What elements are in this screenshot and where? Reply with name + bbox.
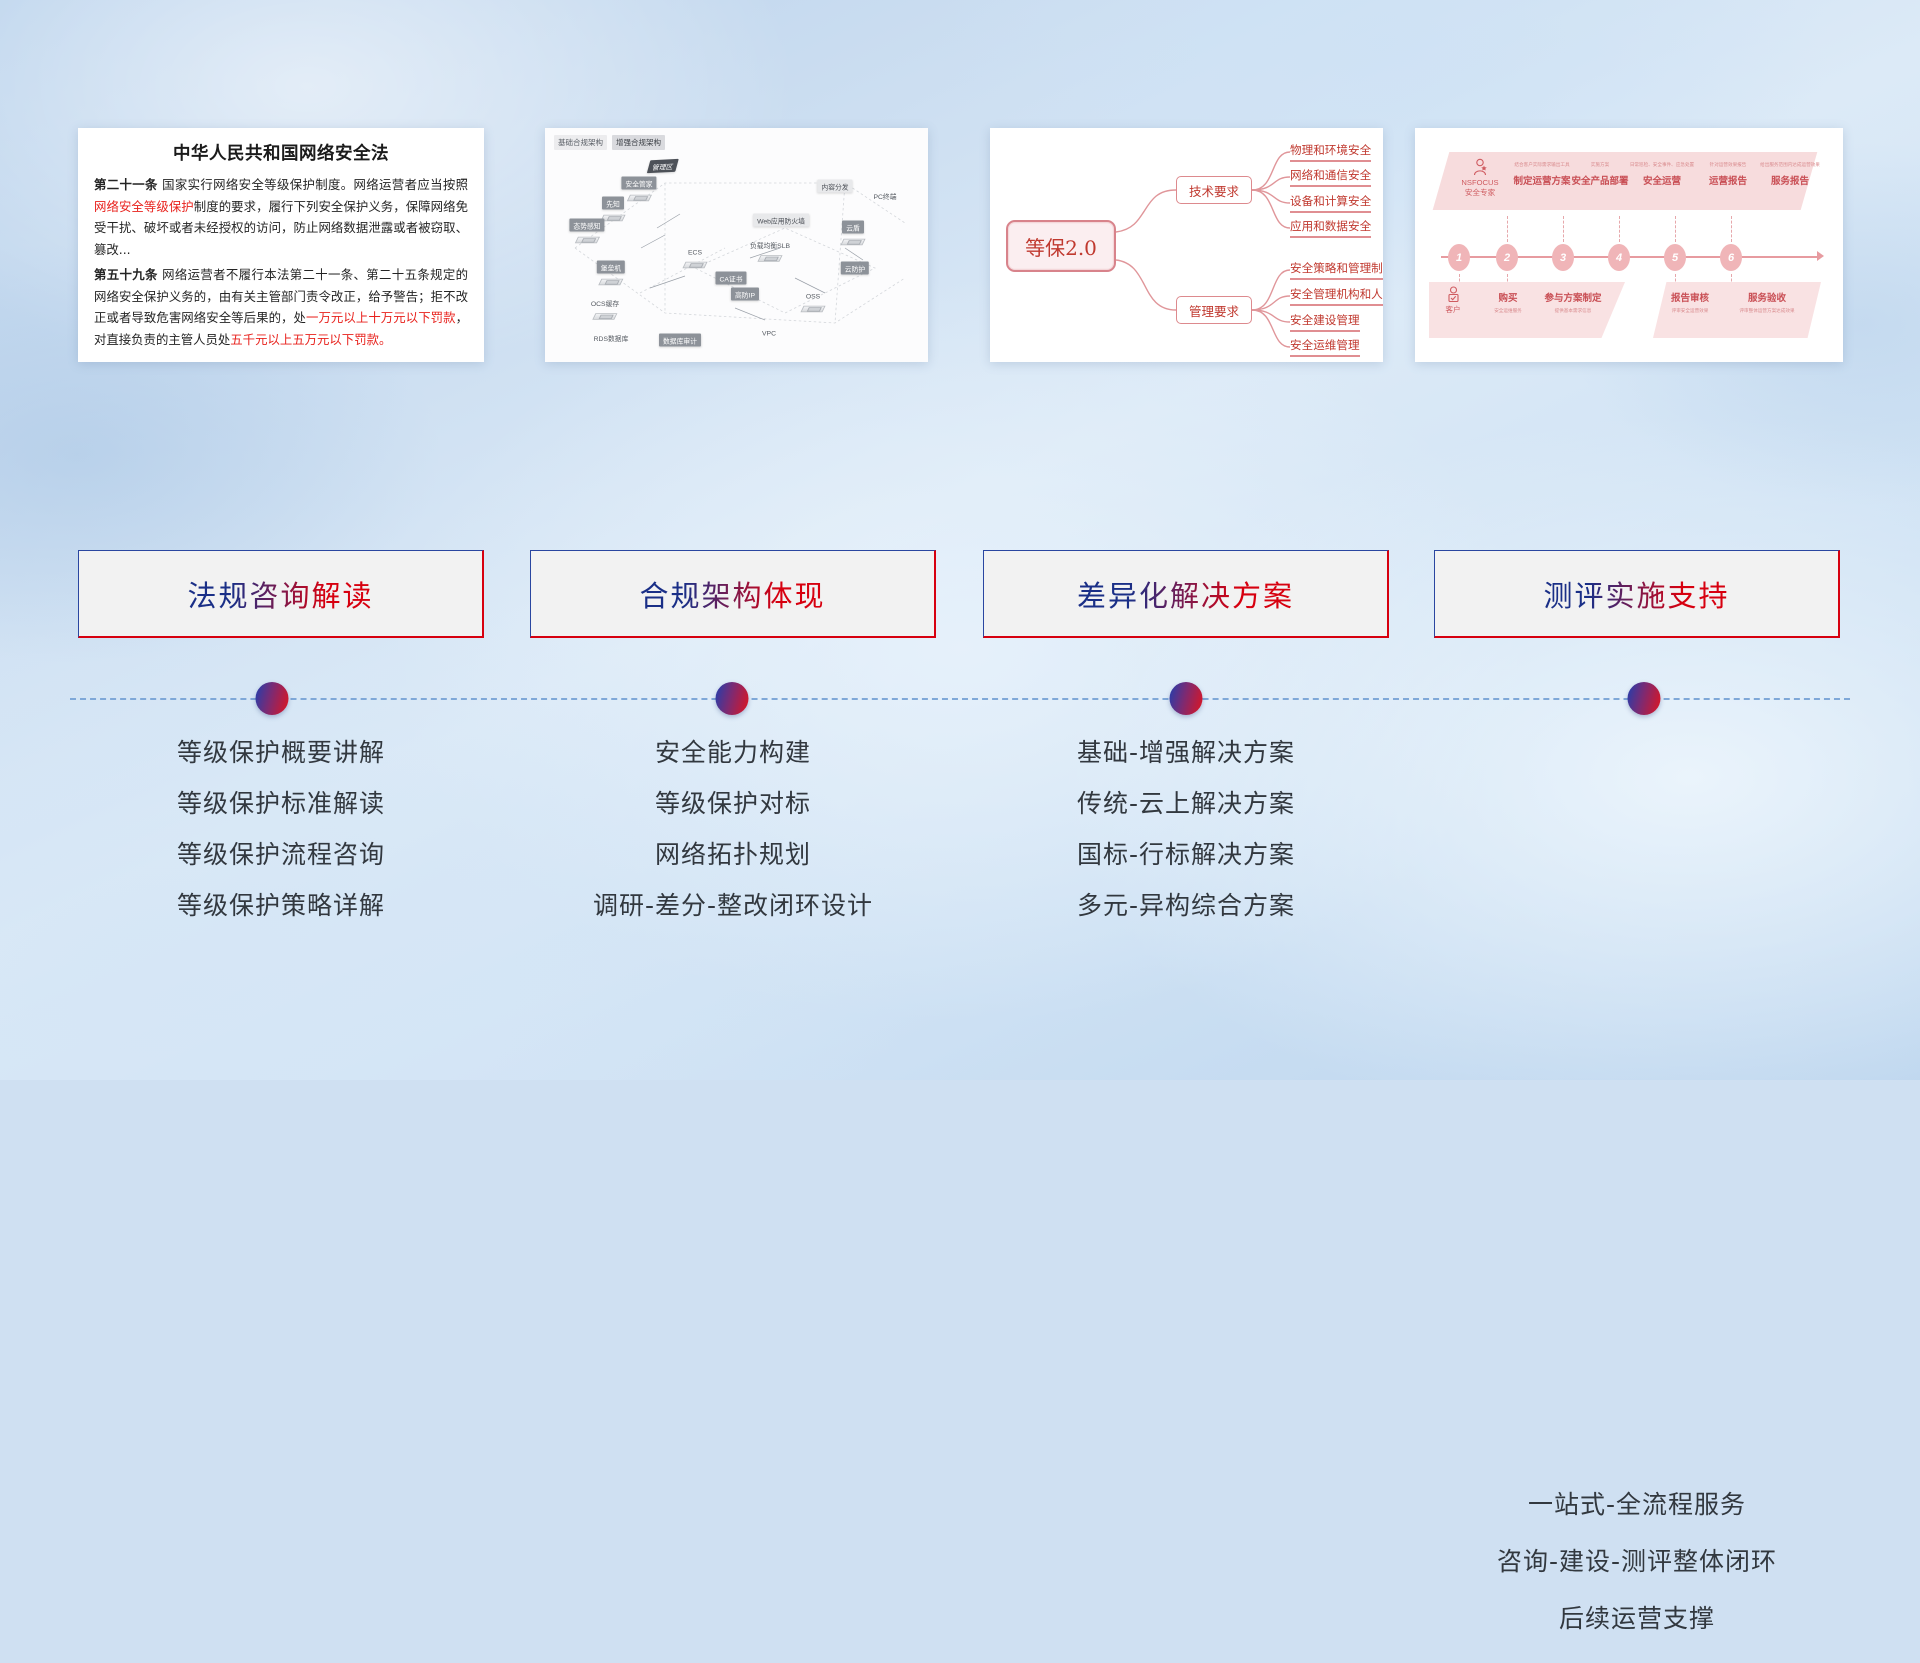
nsfocus-number-6: 6	[1720, 244, 1742, 271]
arch-node-ecs-label: ECS	[688, 250, 702, 257]
arch-node-cdn-label: 内容分发	[817, 180, 852, 193]
arch-node-oss: OSS	[802, 294, 824, 315]
nsfocus-number-1: 1	[1448, 244, 1470, 271]
arch-node-yunfanghu-label: 云防护	[841, 262, 869, 275]
nsfocus-bottom-1-sub: 安全运维服务	[1481, 308, 1535, 314]
nsfocus-brand: NSFOCUS	[1451, 178, 1509, 187]
law-article-21-highlight: 网络安全等级保护	[94, 199, 194, 214]
nsfocus-tick-6	[1731, 216, 1732, 242]
server-icon	[600, 275, 622, 288]
list-item: 基础-增强解决方案	[983, 740, 1389, 765]
list-item: 等级保护概要讲解	[78, 740, 484, 765]
nsfocus-bottom-3-sub: 评审安全运营效果	[1655, 308, 1725, 314]
arch-node-dbaudit-label: 数据库审计	[659, 334, 701, 347]
arch-node-vpc: VPC	[762, 331, 776, 338]
slide-canvas: 中华人民共和国网络安全法 第二十一条 国家实行网络安全等级保护制度。网络运营者应…	[0, 0, 1920, 1080]
server-icon	[759, 251, 781, 264]
arch-node-pc: PC终端	[873, 191, 896, 201]
list-item: 一站式-全流程服务	[1434, 1492, 1840, 1517]
section-title-row: 法规咨询解读 合规架构体现 差异化解决方案 测评实施支持	[0, 550, 1920, 638]
law-document: 中华人民共和国网络安全法 第二十一条 国家实行网络安全等级保护制度。网络运营者应…	[78, 128, 484, 359]
timeline-dot-4[interactable]	[1628, 682, 1661, 715]
arch-node-ca: CA证书	[715, 272, 746, 285]
arch-node-waf: Web应用防火墙	[753, 214, 809, 227]
timeline-dot-3[interactable]	[1170, 682, 1203, 715]
nsfocus-service-flow: NSFOCUS 安全专家 结合客户实际需求输出工具 制定运营方案 实施方案 安全…	[1415, 128, 1843, 362]
server-icon	[576, 233, 598, 246]
section-title-2: 合规架构体现	[639, 573, 825, 615]
mindmap-leaf-ops: 安全运维管理	[1290, 337, 1360, 357]
nsfocus-tick-2	[1507, 216, 1508, 242]
law-article-59-label: 第五十九条	[94, 267, 158, 282]
section-items-2: 安全能力构建 等级保护对标 网络拓扑规划 调研-差分-整改闭环设计	[530, 740, 936, 944]
section-title-3: 差异化解决方案	[1077, 573, 1294, 615]
nsfocus-bottom-4-main: 服务验收	[1727, 290, 1807, 304]
arch-node-anquanguanjia: 安全管家	[621, 177, 656, 204]
arch-node-slb-label: 负载均衡SLB	[750, 240, 790, 250]
nsfocus-number-4: 4	[1608, 244, 1630, 271]
arch-node-ocs: OCS缓存	[591, 298, 619, 322]
section-items-4: 一站式-全流程服务 咨询-建设-测评整体闭环 后续运营支撑	[1434, 1492, 1840, 1663]
nsfocus-bottom-2-main: 参与方案制定	[1535, 290, 1611, 304]
list-item: 咨询-建设-测评整体闭环	[1434, 1549, 1840, 1574]
server-icon	[842, 235, 864, 248]
nsfocus-tick-5	[1675, 216, 1676, 242]
card-nsfocus-timeline[interactable]: NSFOCUS 安全专家 结合客户实际需求输出工具 制定运营方案 实施方案 安全…	[1415, 128, 1843, 362]
section-title-4: 测评实施支持	[1543, 573, 1729, 615]
mindmap-leaf-device: 设备和计算安全	[1290, 193, 1371, 213]
list-item: 等级保护对标	[530, 791, 936, 816]
law-article-21-text-a: 国家实行网络安全等级保护制度。网络运营者应当按照	[158, 177, 468, 192]
section-items-1: 等级保护概要讲解 等级保护标准解读 等级保护流程咨询 等级保护策略详解	[78, 740, 484, 944]
arch-node-guanliqu-label: 管理区	[647, 159, 679, 173]
law-article-21: 第二十一条 国家实行网络安全等级保护制度。网络运营者应当按照网络安全等级保护制度…	[94, 174, 468, 260]
arch-node-anquanguanjia-label: 安全管家	[621, 177, 656, 190]
arch-node-vpc-label: VPC	[762, 331, 776, 338]
law-article-59-highlight-b: 五千元以上五万元以下罚款。	[230, 332, 391, 347]
server-icon	[628, 191, 650, 204]
nsfocus-bottom-4-sub: 评审整体运营方案达成效果	[1727, 308, 1807, 314]
list-item: 后续运营支撑	[1434, 1606, 1840, 1631]
arch-node-ecs: ECS	[684, 250, 706, 271]
mindmap-leaf-org: 安全管理机构和人员	[1290, 286, 1383, 306]
arch-node-cdn: 内容分发	[817, 180, 852, 193]
arch-node-yundun: 云盾	[842, 221, 864, 248]
law-article-59-highlight-a: 一万元以上十万元以下罚款	[306, 310, 456, 325]
nsfocus-bottom-3-main: 报告审核	[1655, 290, 1725, 304]
list-item: 国标-行标解决方案	[983, 842, 1389, 867]
server-icon	[684, 258, 706, 271]
arch-node-yundun-label: 云盾	[842, 221, 864, 234]
nsfocus-expert: NSFOCUS 安全专家	[1451, 158, 1509, 197]
mindmap-leaf-network: 网络和通信安全	[1290, 167, 1371, 187]
nsfocus-bottom-2: 参与方案制定 提供基本需求信息	[1535, 290, 1611, 314]
mindmap-branch-management: 管理要求	[1176, 296, 1252, 324]
section-items-3: 基础-增强解决方案 传统-云上解决方案 国标-行标解决方案 多元-异构综合方案	[983, 740, 1389, 944]
list-item: 传统-云上解决方案	[983, 791, 1389, 816]
section-title-box-1[interactable]: 法规咨询解读	[78, 550, 484, 638]
arch-node-waf-label: Web应用防火墙	[753, 214, 809, 227]
mindmap-root: 等保2.0	[1006, 220, 1116, 272]
mindmap-leaf-build: 安全建设管理	[1290, 312, 1360, 332]
list-item: 等级保护策略详解	[78, 893, 484, 918]
mindmap-branch-technical: 技术要求	[1176, 176, 1252, 204]
nsfocus-bottom-1: 购买 安全运维服务	[1481, 290, 1535, 314]
arch-node-pc-label: PC终端	[873, 191, 896, 201]
mindmap-leaf-app: 应用和数据安全	[1290, 218, 1371, 238]
nsfocus-bottom-4: 服务验收 评审整体运营方案达成效果	[1727, 290, 1807, 314]
nsfocus-bottom-2-sub: 提供基本需求信息	[1535, 308, 1611, 314]
card-mindmap[interactable]: 等保2.0 技术要求 管理要求 物理和环境安全 网络和通信安全 设备和计算安全 …	[990, 128, 1383, 362]
mindmap-leaf-physical: 物理和环境安全	[1290, 142, 1371, 162]
law-article-21-label: 第二十一条	[94, 177, 158, 192]
server-icon	[594, 309, 616, 322]
architecture-diagram: 基础合规架构 增强合规架构	[545, 128, 928, 362]
list-item: 等级保护流程咨询	[78, 842, 484, 867]
arch-node-guanliqu: 管理区	[649, 160, 677, 173]
list-item: 多元-异构综合方案	[983, 893, 1389, 918]
nsfocus-customer: 客户	[1433, 286, 1473, 315]
section-title-1: 法规咨询解读	[187, 573, 373, 615]
arch-node-gaofangip-label: 高防IP	[731, 288, 759, 301]
timeline-dot-1[interactable]	[256, 682, 289, 715]
list-item: 安全能力构建	[530, 740, 936, 765]
arch-node-xianzhi-label: 先知	[602, 197, 624, 210]
server-icon	[602, 211, 624, 224]
arch-node-slb: 负载均衡SLB	[750, 240, 790, 264]
nsfocus-number-3: 3	[1552, 244, 1574, 271]
timeline-dashed-line	[70, 698, 1850, 700]
nsfocus-bottom-1-main: 购买	[1481, 290, 1535, 304]
mindmap-leaf-policy: 安全策略和管理制度	[1290, 260, 1383, 280]
arch-node-gaofangip: 高防IP	[731, 288, 759, 301]
card-architecture-diagram[interactable]: 基础合规架构 增强合规架构	[545, 128, 928, 362]
nsfocus-number-5: 5	[1664, 244, 1686, 271]
server-icon	[802, 302, 824, 315]
arch-node-rds: RDS数据库	[594, 333, 629, 343]
nsfocus-band-content: NSFOCUS 安全专家 结合客户实际需求输出工具 制定运营方案 实施方案 安全…	[1441, 152, 1809, 210]
arch-node-yunfanghu: 云防护	[841, 262, 869, 275]
nsfocus-step-5: 给出服务范围内达成运营效果 服务报告	[1747, 162, 1833, 187]
arch-node-ocs-label: OCS缓存	[591, 298, 619, 308]
list-item: 网络拓扑规划	[530, 842, 936, 867]
arch-node-dbaudit: 数据库审计	[659, 334, 701, 347]
nsfocus-step-5-sub: 给出服务范围内达成运营效果	[1747, 162, 1833, 168]
nsfocus-customer-label: 客户	[1433, 305, 1473, 315]
law-article-59: 第五十九条 网络运营者不履行本法第二十一条、第二十五条规定的网络安全保护义务的，…	[94, 264, 468, 350]
list-item: 等级保护标准解读	[78, 791, 484, 816]
arch-node-rds-label: RDS数据库	[594, 333, 629, 343]
arch-node-taishiganzhi-label: 态势感知	[569, 219, 604, 232]
list-item: 调研-差分-整改闭环设计	[530, 893, 936, 918]
section-title-box-4[interactable]: 测评实施支持	[1434, 550, 1840, 638]
arch-node-oss-label: OSS	[806, 294, 820, 301]
customer-icon	[1446, 286, 1461, 302]
section-title-box-2[interactable]: 合规架构体现	[530, 550, 936, 638]
expert-icon	[1472, 158, 1488, 176]
section-title-box-3[interactable]: 差异化解决方案	[983, 550, 1389, 638]
nsfocus-tick-4	[1619, 216, 1620, 242]
mindmap-dengbao: 等保2.0 技术要求 管理要求 物理和环境安全 网络和通信安全 设备和计算安全 …	[990, 128, 1383, 362]
arch-node-baoleiji-label: 堡垒机	[597, 261, 625, 274]
arch-node-taishiganzhi: 态势感知	[569, 219, 604, 246]
arch-node-ca-label: CA证书	[715, 272, 746, 285]
nsfocus-brand-sub: 安全专家	[1451, 188, 1509, 197]
arrow-right-icon	[1817, 251, 1824, 261]
arch-node-baoleiji: 堡垒机	[597, 261, 625, 288]
card-row: 中华人民共和国网络安全法 第二十一条 国家实行网络安全等级保护制度。网络运营者应…	[0, 128, 1920, 362]
card-law-document[interactable]: 中华人民共和国网络安全法 第二十一条 国家实行网络安全等级保护制度。网络运营者应…	[78, 128, 484, 362]
law-title: 中华人民共和国网络安全法	[94, 140, 468, 165]
nsfocus-step-5-main: 服务报告	[1747, 173, 1833, 187]
nsfocus-tick-3	[1563, 216, 1564, 242]
timeline-dot-2[interactable]	[716, 682, 749, 715]
nsfocus-bottom-3: 报告审核 评审安全运营效果	[1655, 290, 1725, 314]
nsfocus-number-2: 2	[1496, 244, 1518, 271]
arch-node-xianzhi: 先知	[602, 197, 624, 224]
